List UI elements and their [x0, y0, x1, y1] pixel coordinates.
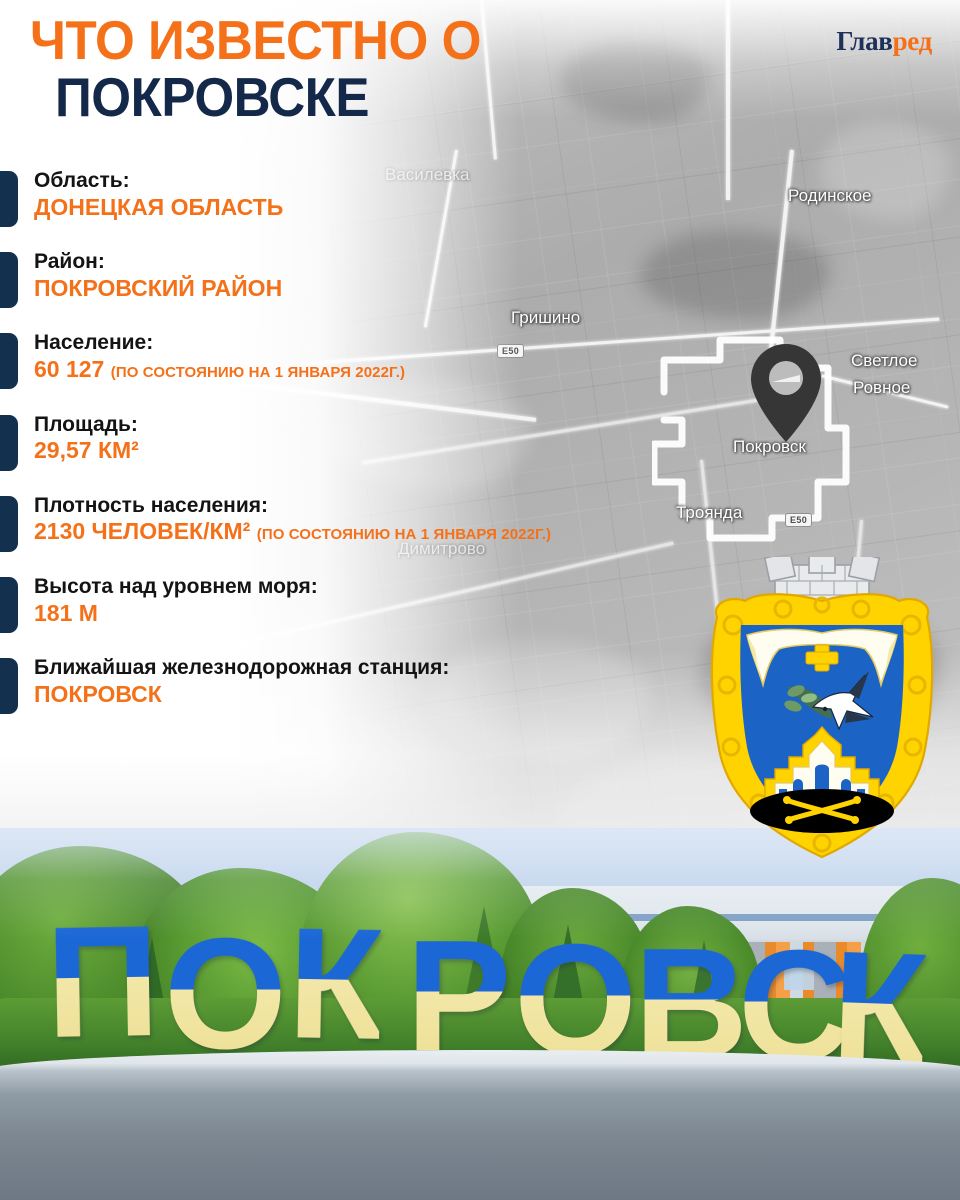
fact-marker [0, 496, 18, 552]
title-line-1: ЧТО ИЗВЕСТНО О [30, 12, 481, 69]
fact-label: Ближайшая железнодорожная станция: [34, 655, 760, 681]
fact-value: ПОКРОВСК [34, 681, 162, 707]
fact-label: Область: [34, 168, 760, 194]
fact-value-wrapper: 60 127 (ПО СОСТОЯНИЮ НА 1 ЯНВАРЯ 2022Г.) [34, 356, 760, 384]
fact-value-wrapper: ДОНЕЦКАЯ ОБЛАСТЬ [34, 194, 760, 222]
brand-part-red: ред [893, 26, 932, 56]
fact-label: Район: [34, 249, 760, 275]
fact-label: Высота над уровнем моря: [34, 574, 760, 600]
sign-letter: О [164, 915, 283, 1073]
title-line-2: ПОКРОВСКЕ [55, 69, 483, 126]
fact-value: ДОНЕЦКАЯ ОБЛАСТЬ [34, 194, 283, 220]
fact-value-wrapper: 181 М [34, 600, 760, 628]
infographic-root: E50 E50 Василевка Родинское Гришино Свет… [0, 0, 960, 1200]
brand-logo-glavred[interactable]: Главред [836, 26, 932, 57]
fact-row-elevation: Высота над уровнем моря: 181 М [0, 574, 760, 627]
fact-row-rayon: Район: ПОКРОВСКИЙ РАЙОН [0, 249, 760, 302]
fact-marker [0, 577, 18, 633]
fact-row-area: Площадь: 29,57 КМ² [0, 412, 760, 465]
fact-value: 181 М [34, 600, 98, 626]
fact-value-wrapper: 29,57 КМ² [34, 437, 760, 465]
map-label: Ровное [853, 378, 910, 398]
sign-letter: П [45, 902, 157, 1062]
fact-value: ПОКРОВСКИЙ РАЙОН [34, 275, 282, 301]
brand-part-glav: Глав [836, 26, 892, 56]
fact-row-population: Население: 60 127 (ПО СОСТОЯНИЮ НА 1 ЯНВ… [0, 330, 760, 383]
fact-value-wrapper: ПОКРОВСК [34, 681, 760, 709]
coat-of-arms-pokrovsk [697, 557, 947, 867]
fact-row-railway-station: Ближайшая железнодорожная станция: ПОКРО… [0, 655, 760, 708]
fact-marker [0, 171, 18, 227]
fact-row-oblast: Область: ДОНЕЦКАЯ ОБЛАСТЬ [0, 168, 760, 221]
fact-marker [0, 658, 18, 714]
fact-marker [0, 252, 18, 308]
fact-value: 2130 ЧЕЛОВЕК/КМ² [34, 518, 250, 544]
fact-row-density: Плотность населения: 2130 ЧЕЛОВЕК/КМ² (П… [0, 493, 760, 546]
sign-letter: К [287, 904, 382, 1064]
fact-marker [0, 415, 18, 471]
fact-label: Площадь: [34, 412, 760, 438]
fact-value: 60 127 [34, 356, 104, 382]
fact-label: Плотность населения: [34, 493, 760, 519]
map-label: Родинское [788, 186, 872, 206]
fact-value: 29,57 КМ² [34, 437, 139, 463]
fact-label: Население: [34, 330, 760, 356]
concrete-plinth [0, 1050, 960, 1200]
crossed-sabres-on-mound-charge [750, 789, 894, 833]
fact-list: Область: ДОНЕЦКАЯ ОБЛАСТЬ Район: ПОКРОВС… [0, 168, 760, 736]
fact-note: (ПО СОСТОЯНИЮ НА 1 ЯНВАРЯ 2022Г.) [111, 364, 405, 381]
page-title: ЧТО ИЗВЕСТНО О ПОКРОВСКЕ [30, 12, 515, 125]
fact-value-wrapper: 2130 ЧЕЛОВЕК/КМ² (ПО СОСТОЯНИЮ НА 1 ЯНВА… [34, 518, 760, 546]
fact-note: (ПО СОСТОЯНИЮ НА 1 ЯНВАРЯ 2022Г.) [257, 526, 551, 543]
fact-value-wrapper: ПОКРОВСКИЙ РАЙОН [34, 275, 760, 303]
city-sign-photo: П О К Р О В С К [0, 828, 960, 1200]
road-shield-e50: E50 [785, 513, 812, 527]
map-label: Светлое [851, 351, 917, 371]
fact-marker [0, 333, 18, 389]
